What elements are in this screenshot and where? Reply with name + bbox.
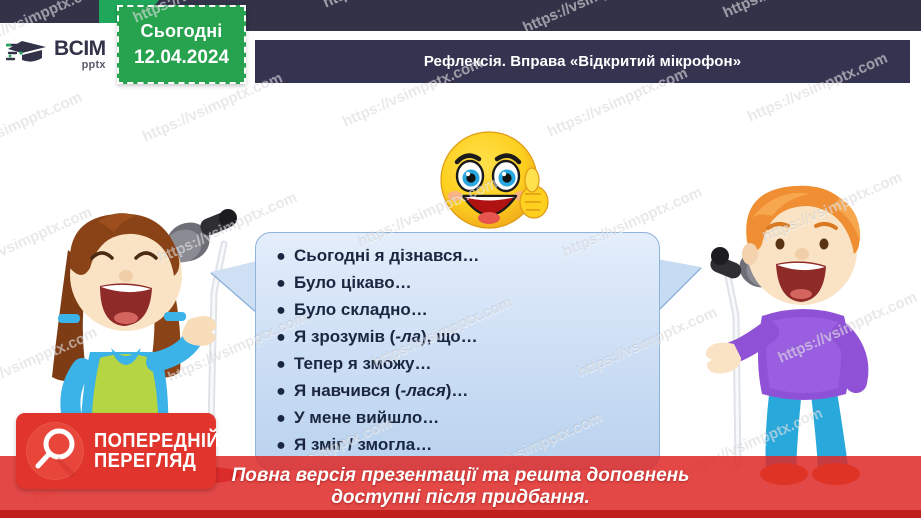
list-item: ● Я навчився (-лася)… (268, 382, 649, 400)
preview-badge-line1: ПОПЕРЕДНІЙ (94, 431, 220, 451)
boy-singing-into-microphone (690, 166, 915, 501)
list-item-label: Я навчився (-лася)… (294, 382, 468, 399)
list-item-label: Було складно… (294, 301, 428, 318)
purchase-notice-line2: доступні після придбання. (331, 487, 590, 509)
date-badge: Сьогодні 12.04.2024 (117, 5, 246, 84)
logo-title: BCIM (54, 38, 106, 59)
bullet-icon: ● (268, 438, 294, 454)
brand-logo: BCIM pptx (0, 23, 118, 85)
smiley-thumbs-up-emoji (437, 124, 549, 236)
logo-subtitle: pptx (54, 60, 106, 71)
magnifier-icon (26, 422, 84, 480)
list-item: ● Я зміг / змогла… (268, 436, 649, 454)
date-badge-label: Сьогодні (141, 21, 223, 42)
list-item: ● У мене вийшло… (268, 409, 649, 427)
bullet-icon: ● (268, 249, 294, 265)
list-item-label: Я зрозумів (-ла), що… (294, 328, 478, 345)
list-item: ● Тепер я зможу… (268, 355, 649, 373)
preview-badge[interactable]: ПОПЕРЕДНІЙ ПЕРЕГЛЯД (16, 413, 216, 489)
bullet-icon: ● (268, 330, 294, 346)
speech-bubble: ● Сьогодні я дізнався… ● Було цікаво… ● … (255, 232, 660, 470)
bullet-icon: ● (268, 384, 294, 400)
page-title: Рефлексія. Вправа «Відкритий мікрофон» (424, 53, 741, 70)
bottom-accent-strip (0, 510, 921, 518)
list-item-label: Було цікаво… (294, 274, 412, 291)
preview-badge-line2: ПЕРЕГЛЯД (94, 451, 220, 471)
reflection-prompt-list: ● Сьогодні я дізнався… ● Було цікаво… ● … (268, 247, 649, 454)
speech-bubble-tail-left (211, 261, 257, 312)
list-item: ● Було складно… (268, 301, 649, 319)
list-item: ● Я зрозумів (-ла), що… (268, 328, 649, 346)
slide-canvas: BCIM pptx Сьогодні 12.04.2024 Рефлексія.… (0, 0, 921, 518)
list-item-label: Сьогодні я дізнався… (294, 247, 479, 264)
purchase-notice-line1: Повна версія презентації та решта доповн… (232, 465, 690, 487)
speech-bubble-tail-right (657, 259, 701, 311)
watermark-text: https://vsimpptx.com (0, 89, 85, 166)
list-item: ● Сьогодні я дізнався… (268, 247, 649, 265)
list-item: ● Було цікаво… (268, 274, 649, 292)
slide-title-bar: Рефлексія. Вправа «Відкритий мікрофон» (255, 40, 910, 83)
bullet-icon: ● (268, 411, 294, 427)
bullet-icon: ● (268, 276, 294, 292)
date-badge-value: 12.04.2024 (134, 47, 229, 69)
bullet-icon: ● (268, 357, 294, 373)
graduation-cap-icon (6, 36, 52, 72)
list-item-label: Тепер я зможу… (294, 355, 432, 372)
bullet-icon: ● (268, 303, 294, 319)
list-item-label: Я зміг / змогла… (294, 436, 432, 453)
list-item-label: У мене вийшло… (294, 409, 439, 426)
